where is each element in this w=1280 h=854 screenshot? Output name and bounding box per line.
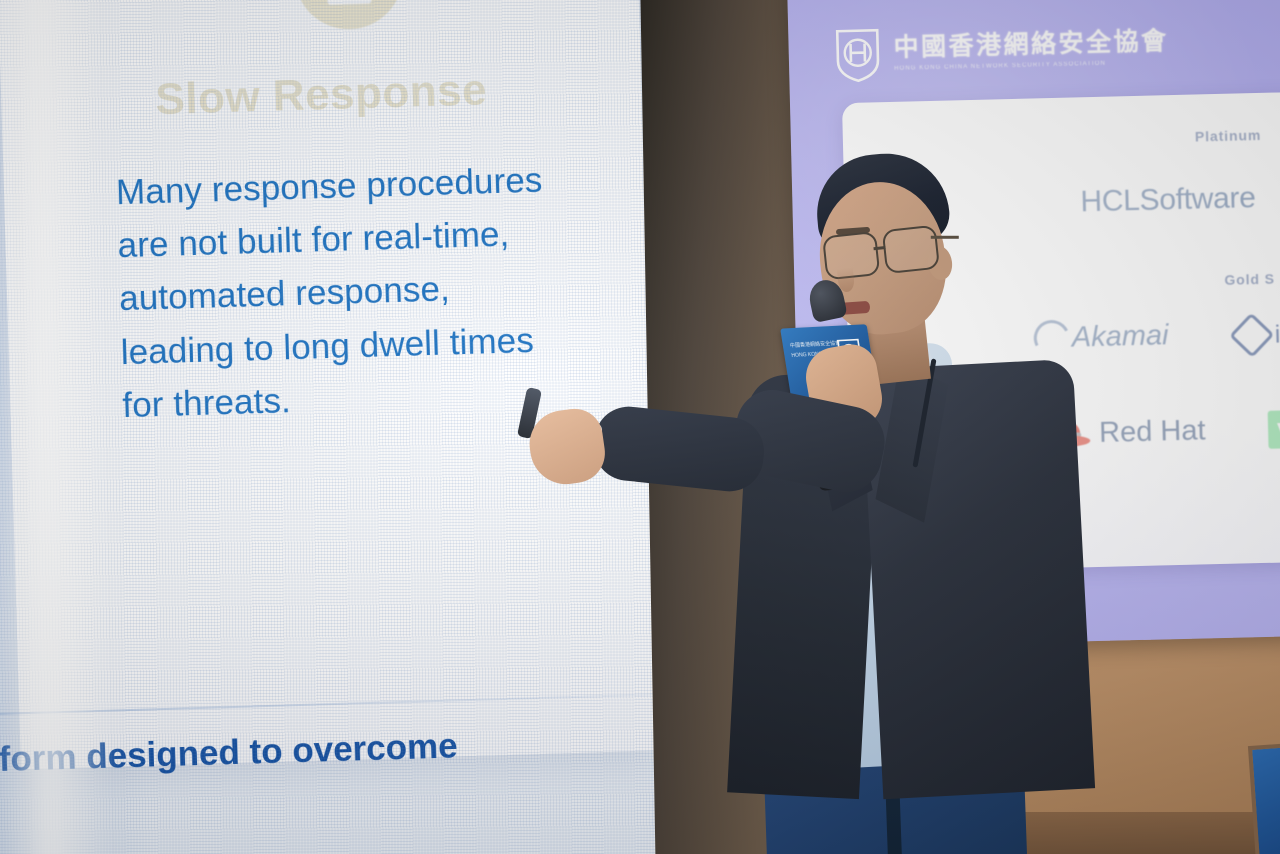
clipboard-icon	[293, 0, 404, 31]
tier-label-platinum: Platinum	[1195, 127, 1262, 145]
sponsor-logo-veeam: ve	[1268, 410, 1280, 449]
association-lockup: 中國香港網絡安全協會 HONG KONG CHINA NETWORK SECUR…	[834, 19, 1169, 83]
speaker-figure: 中國香港網絡安全協會 HONG KONG CHINA	[690, 150, 1090, 854]
slide-body-text: Many response procedures are not built f…	[115, 151, 643, 432]
diamond-wordmark: i-	[1274, 320, 1280, 349]
slide-divider	[0, 692, 699, 715]
slide-footer-text: form designed to overcome	[0, 719, 699, 780]
screenshot-stage: Slow Response Many response procedures a…	[0, 0, 1280, 854]
presentation-slide: Slow Response Many response procedures a…	[0, 0, 661, 769]
redhat-wordmark: Red Hat	[1099, 414, 1206, 450]
diamond-icon	[1229, 313, 1274, 358]
slide-heading: Slow Response	[1, 61, 642, 130]
sponsor-logo-diamond: i-	[1235, 318, 1280, 351]
tier-label-gold: Gold S	[1224, 271, 1275, 288]
association-name-cn: 中國香港網絡安全協會	[893, 29, 1169, 61]
sponsor-logo-hclsoftware: HCLSoftware	[1080, 181, 1256, 219]
hkcnsa-shield-logo	[834, 26, 881, 83]
association-name-en: HONG KONG CHINA NETWORK SECURITY ASSOCIA…	[894, 59, 1169, 72]
